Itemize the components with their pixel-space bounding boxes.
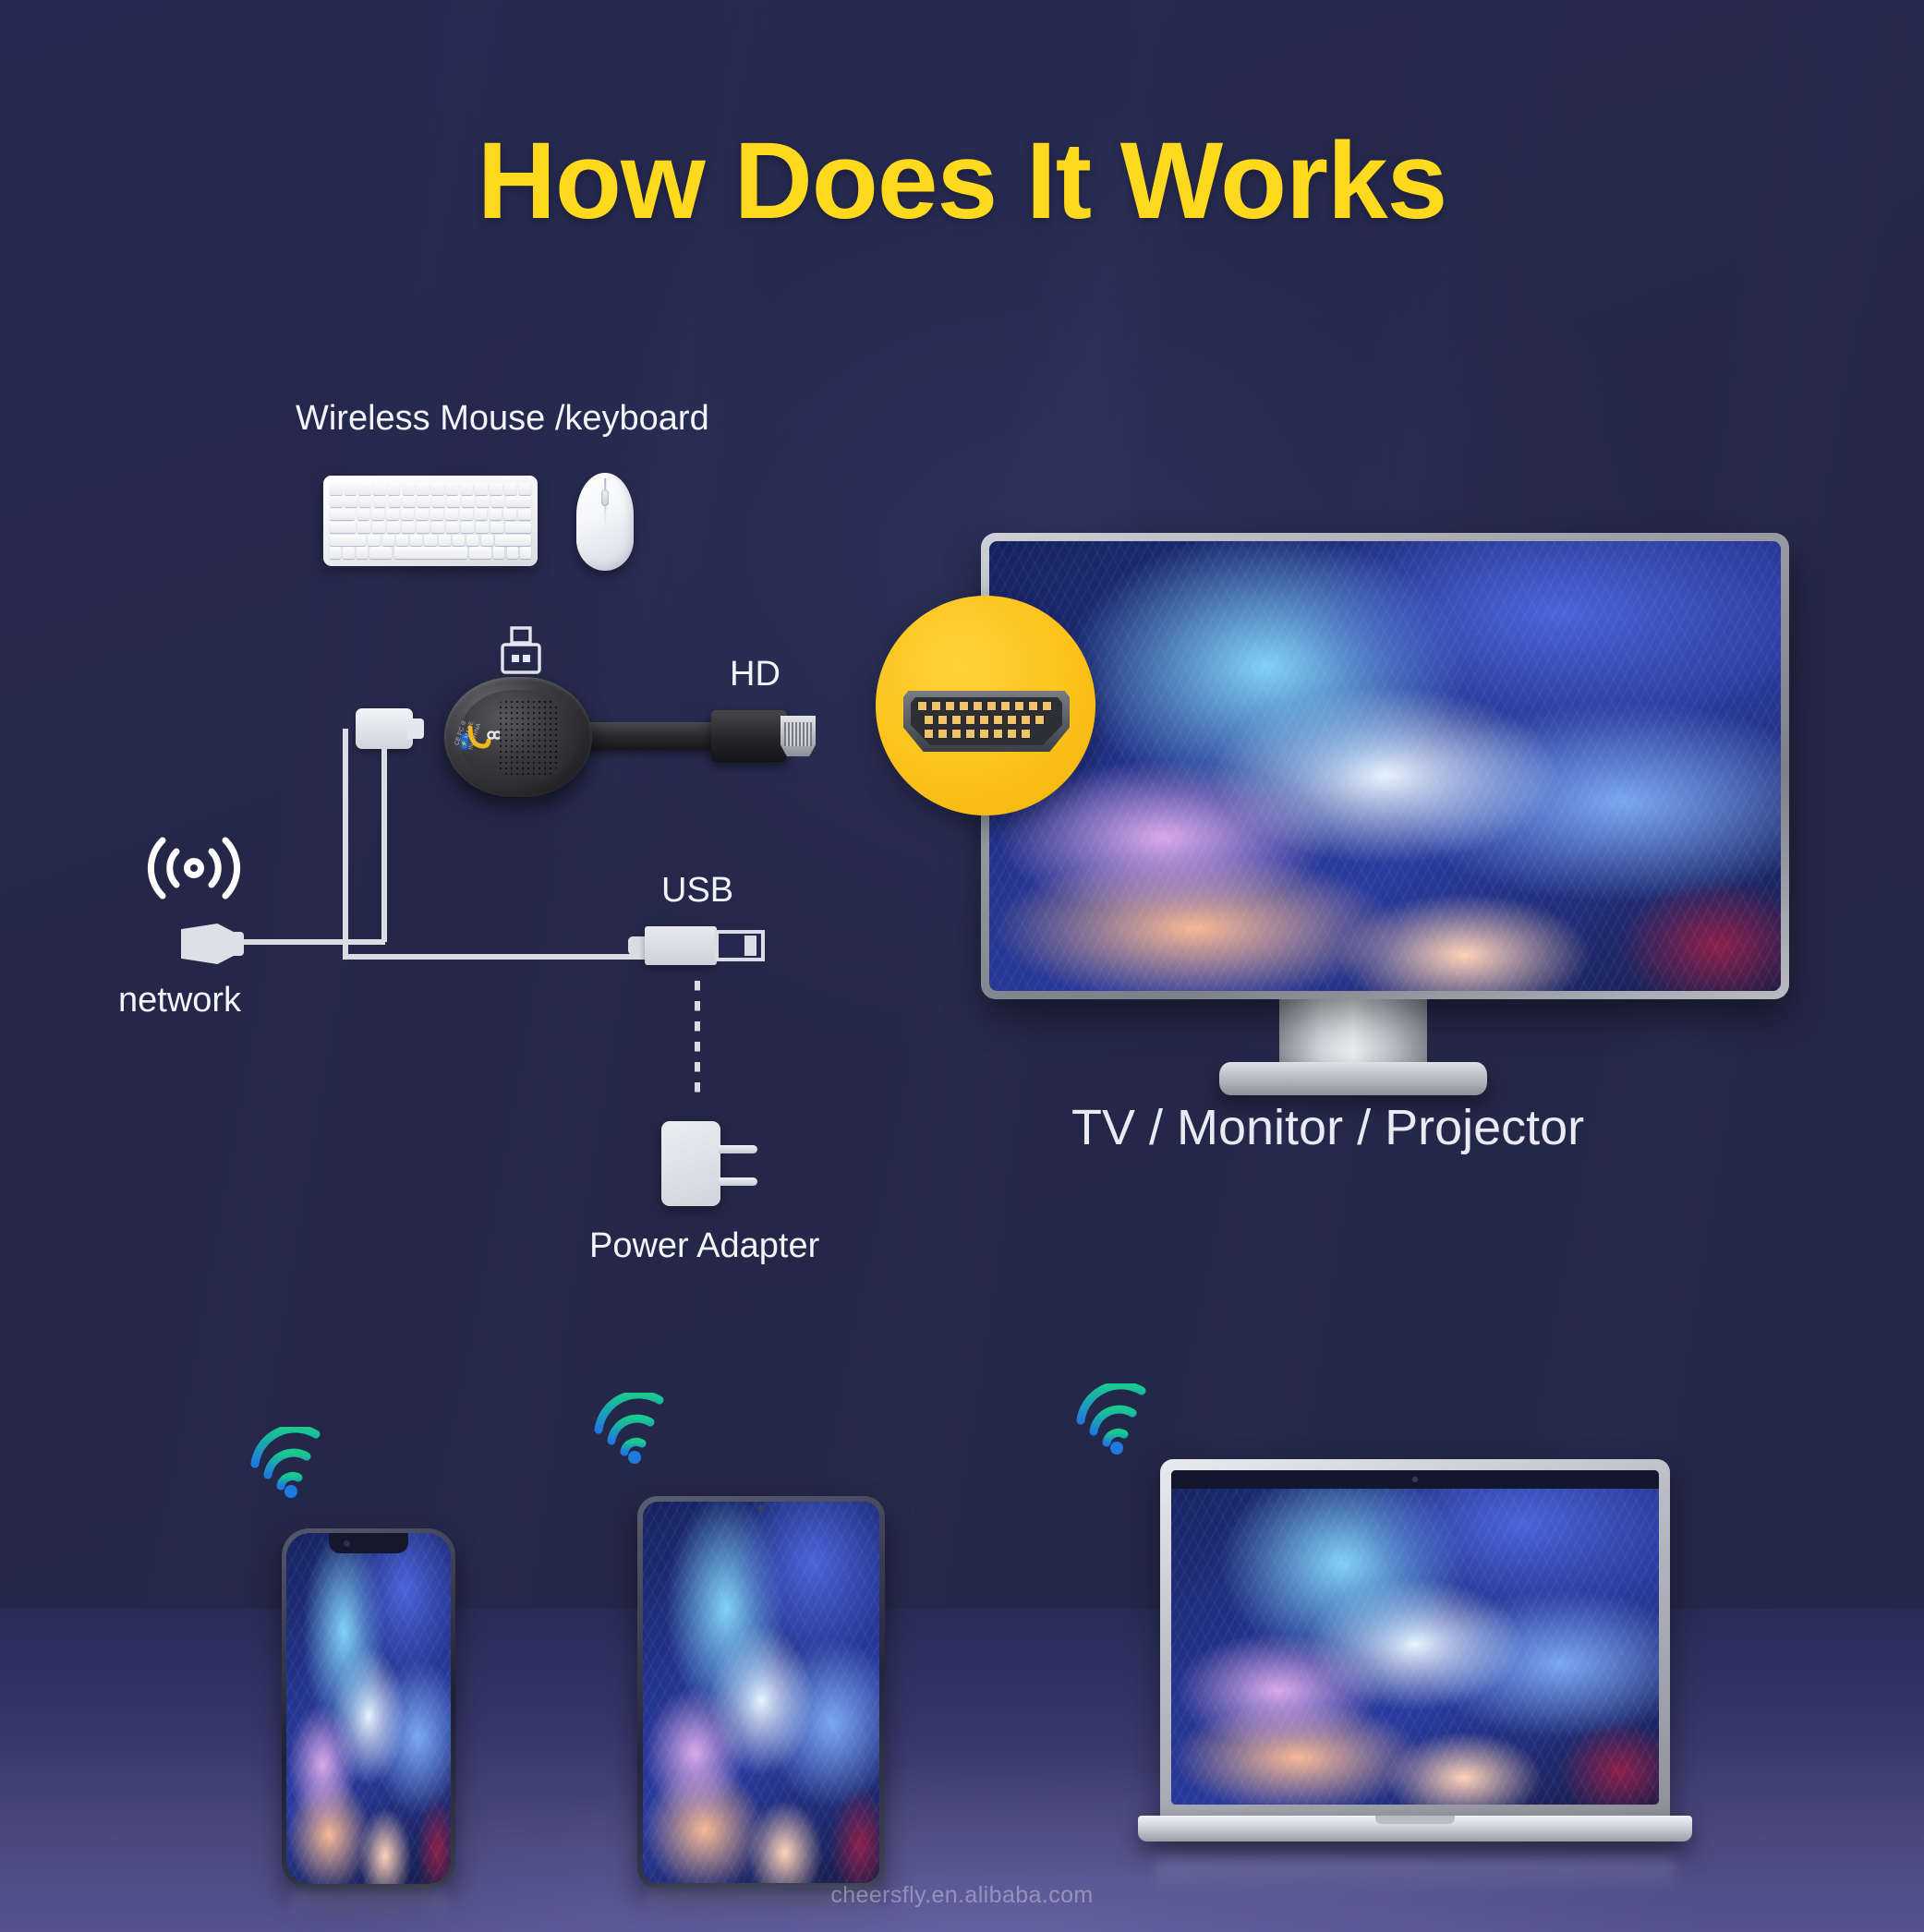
monitor-screen — [989, 541, 1781, 991]
keyboard-row — [330, 483, 531, 495]
keyboard-row — [330, 547, 531, 559]
monitor-device — [981, 533, 1789, 999]
wire-vertical-left — [343, 729, 348, 960]
dongle-smile-logo — [468, 725, 500, 749]
smartphone-device — [282, 1528, 455, 1889]
wifi-broadcast-icon — [1073, 1383, 1156, 1460]
label-network: network — [118, 981, 241, 1020]
wire-bus-to-usb — [343, 954, 647, 960]
hdmi-connector-pins — [784, 722, 812, 746]
wifi-broadcast-icon — [591, 1393, 674, 1469]
monitor-base — [1219, 1062, 1487, 1095]
usb-connector-head — [715, 930, 765, 961]
laptop-front-camera — [1412, 1477, 1418, 1482]
usb-receiver-plug — [356, 708, 413, 749]
label-hd: HD — [730, 655, 780, 694]
wire-network-to-bus — [238, 939, 385, 945]
label-usb: USB — [661, 871, 733, 911]
wallpaper-art — [989, 541, 1781, 991]
usb-connector-body — [645, 926, 717, 965]
tablet-front-camera — [758, 1505, 765, 1512]
page-title: How Does It Works — [0, 118, 1924, 244]
wireless-mouse — [576, 473, 634, 571]
hdmi-connector-shell — [711, 710, 787, 762]
wireless-display-dongle: CE FC ⊘ ⚡ MADE IN CHINA — [444, 677, 592, 797]
infographic-page: How Does It Works Wireless Mouse /keyboa… — [0, 0, 1924, 1932]
keyboard-row — [330, 535, 531, 547]
wire-vertical-inner — [381, 749, 387, 942]
power-adapter-body — [661, 1121, 720, 1206]
mouse-scroll-wheel — [601, 489, 609, 506]
label-display: TV / Monitor / Projector — [1071, 1099, 1584, 1156]
phone-front-camera — [344, 1540, 350, 1547]
laptop-lid — [1160, 1459, 1670, 1819]
phone-notch — [329, 1533, 408, 1553]
laptop-screen — [1171, 1470, 1659, 1805]
label-wireless-input: Wireless Mouse /keyboard — [296, 399, 709, 439]
usb-port-icon — [500, 626, 542, 678]
power-adapter-prong — [719, 1177, 757, 1186]
watermark: cheersfly.en.alibaba.com — [0, 1882, 1924, 1909]
wallpaper-art — [1171, 1470, 1659, 1805]
laptop-device — [1138, 1459, 1692, 1847]
laptop-base-notch — [1375, 1816, 1455, 1824]
keyboard-row — [330, 496, 531, 508]
wallpaper-art — [643, 1502, 879, 1883]
hdmi-port-pins — [918, 702, 1055, 741]
usb-receiver-plug-nose — [407, 718, 424, 739]
wallpaper-art — [286, 1533, 451, 1884]
network-plug-body — [227, 932, 244, 956]
keyboard-row — [330, 522, 531, 534]
keyboard-row — [330, 509, 531, 521]
tablet-screen — [643, 1502, 879, 1883]
wifi-signal-icon — [143, 831, 245, 903]
wifi-broadcast-icon — [248, 1427, 331, 1503]
dotted-connection-line — [695, 981, 700, 1093]
tablet-device — [637, 1496, 885, 1889]
wireless-keyboard — [323, 476, 538, 566]
power-adapter-prong — [719, 1145, 757, 1153]
smartphone-screen — [286, 1533, 451, 1884]
label-power-adapter: Power Adapter — [589, 1226, 819, 1266]
